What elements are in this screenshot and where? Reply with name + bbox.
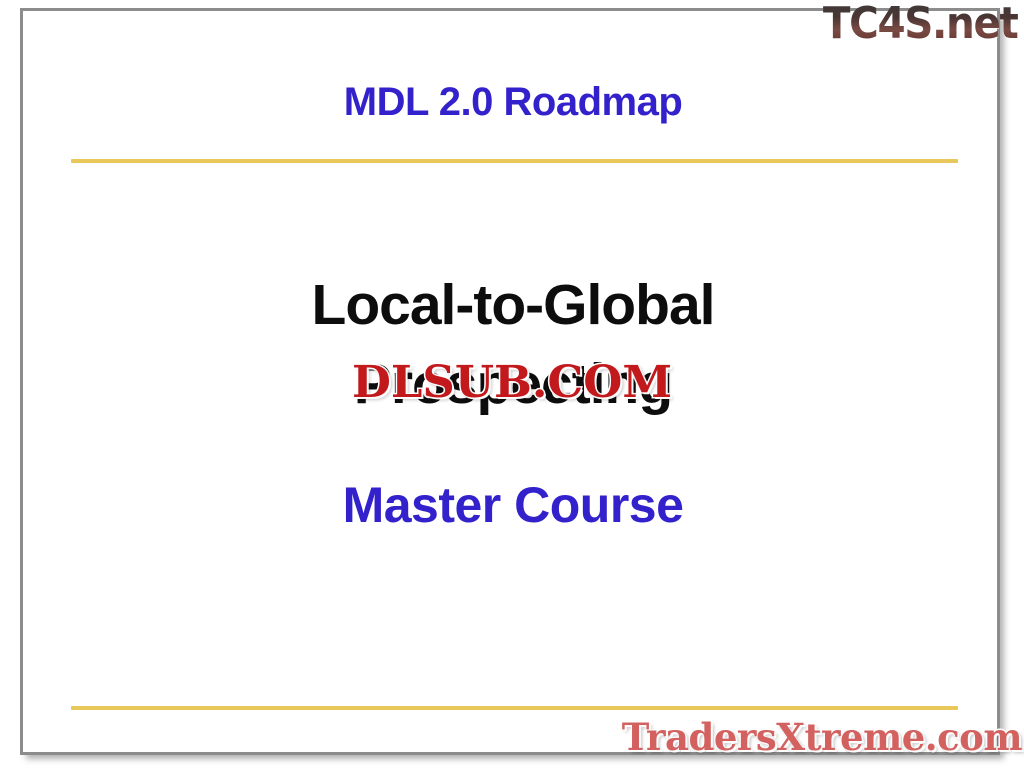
page-title: MDL 2.0 Roadmap <box>23 79 1003 125</box>
divider-top <box>71 159 958 163</box>
slide-body: Local-to-Global Prospecting Master Cours… <box>23 266 1003 535</box>
divider-bottom <box>71 706 958 710</box>
headline-line-1: Local-to-Global <box>23 266 1003 345</box>
slide-canvas: MDL 2.0 Roadmap Local-to-Global Prospect… <box>0 0 1024 768</box>
headline-line-2: Prospecting <box>23 345 1003 424</box>
subtitle: Master Course <box>23 475 1003 535</box>
slide-frame: MDL 2.0 Roadmap Local-to-Global Prospect… <box>20 8 1000 755</box>
